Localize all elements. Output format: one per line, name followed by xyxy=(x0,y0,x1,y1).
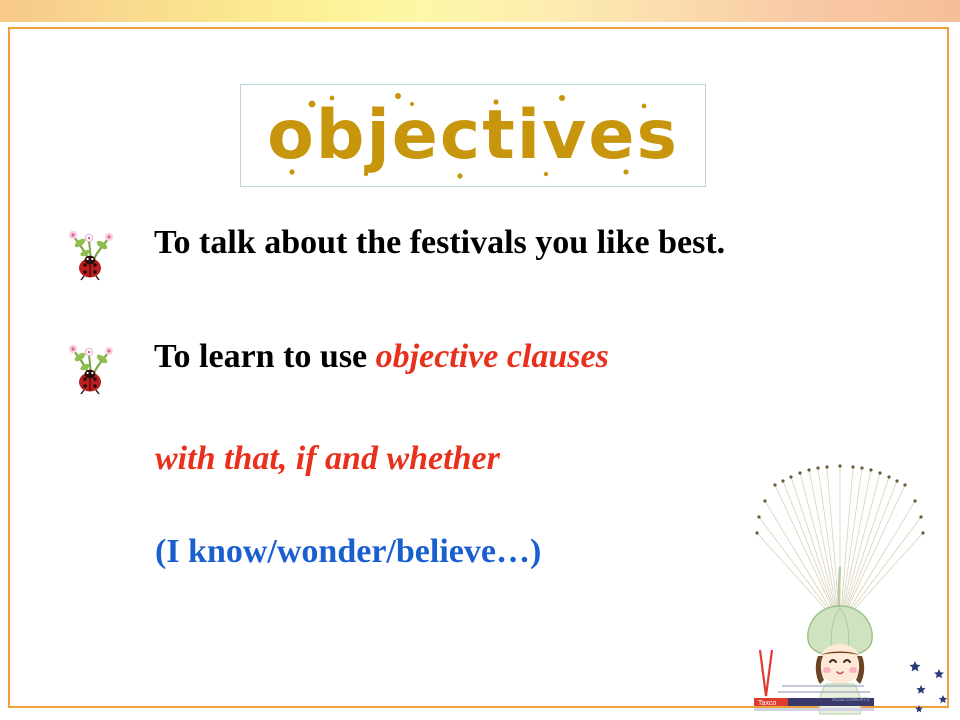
ladybug-flower-bullet-icon xyxy=(60,219,122,281)
top-gradient-band xyxy=(0,0,960,22)
page-title: objectives xyxy=(246,88,700,183)
svg-text:ASSESSMENTS: ASSESSMENTS xyxy=(832,697,870,703)
logo-text: Taxco xyxy=(758,700,776,707)
objectives-list: To talk about the festivals you like bes… xyxy=(60,215,900,395)
objective-2-continuation: with that, if and whether xyxy=(155,435,500,483)
objective-2-lead: To learn to use xyxy=(154,338,376,375)
objective-1-text: To talk about the festivals you like bes… xyxy=(122,215,725,271)
list-item: To talk about the festivals you like bes… xyxy=(60,215,900,281)
objective-2-emphasis: objective clauses xyxy=(376,338,609,375)
stars-icon xyxy=(905,655,957,715)
slide: objectives xyxy=(0,0,960,720)
list-item: To learn to use objective clauses xyxy=(60,329,900,395)
page-title-text: objectives xyxy=(267,96,679,175)
ladybug-flower-bullet-icon xyxy=(60,333,122,395)
objective-2-text: To learn to use objective clauses xyxy=(122,329,609,385)
objective-2-examples: (I know/wonder/believe…) xyxy=(155,528,541,576)
